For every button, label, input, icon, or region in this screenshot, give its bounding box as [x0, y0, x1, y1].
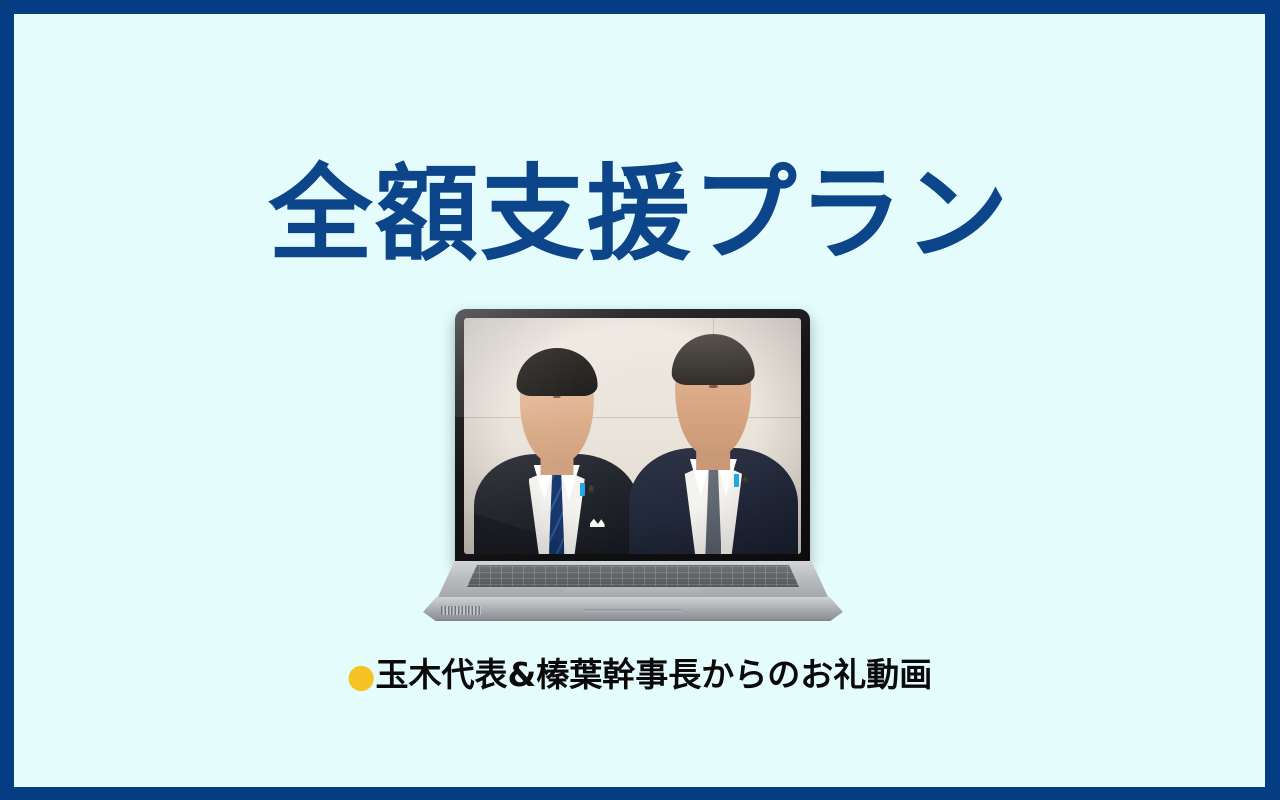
person-left-hair [516, 348, 597, 396]
laptop-device [423, 309, 843, 629]
laptop-vents-icon [441, 606, 481, 615]
laptop-screen[interactable] [464, 318, 801, 554]
video-still-image [464, 318, 801, 554]
page-title: 全額支援プラン [14, 156, 1265, 272]
person-left [474, 346, 639, 554]
person-right-ribbon-pin [734, 474, 739, 487]
person-left-ribbon-pin [580, 483, 585, 495]
caption-text: 玉木代表&榛葉幹事長からのお礼動画 [376, 655, 933, 694]
person-right [629, 332, 798, 554]
caption: ●玉木代表&榛葉幹事長からのお礼動画 [14, 648, 1265, 696]
laptop-latch [584, 609, 682, 612]
laptop-lid [455, 309, 810, 565]
laptop-keyboard[interactable] [467, 565, 799, 587]
bullet-icon: ● [347, 656, 376, 695]
person-left-badge-pin [589, 485, 594, 495]
slide-canvas: 全額支援プラン [14, 14, 1265, 787]
laptop-base [423, 561, 843, 623]
slide-root: 全額支援プラン [0, 0, 1280, 800]
person-right-hair [672, 334, 755, 385]
